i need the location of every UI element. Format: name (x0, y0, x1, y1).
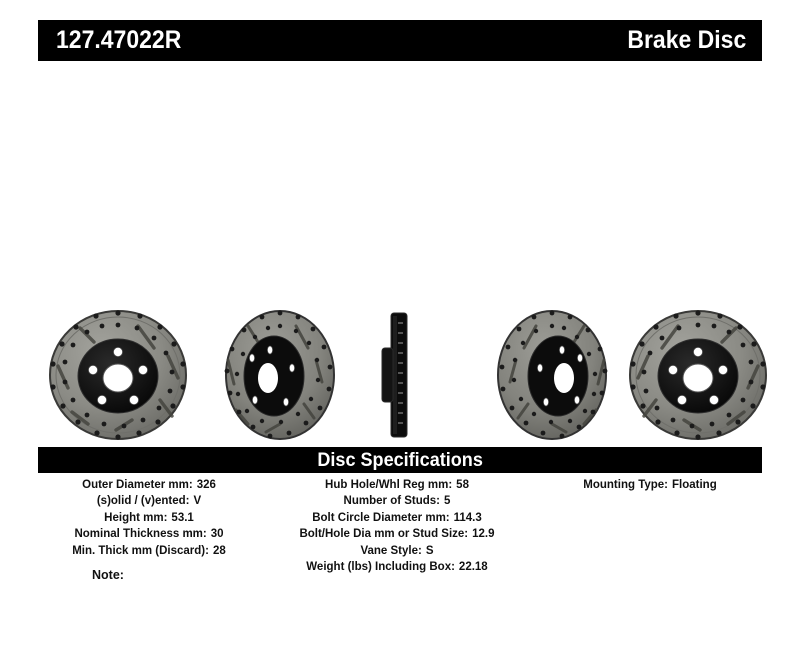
spec-label: Nominal Thickness mm: (74, 526, 206, 542)
rotor-angled-right (488, 300, 620, 445)
spec-label: (s)olid / (v)ented: (97, 493, 190, 509)
rotor-angled-left (212, 300, 344, 445)
spec-row: Hub Hole/Whl Reg mm: 58 (266, 477, 528, 493)
spec-column-right: Mounting Type: Floating (538, 477, 762, 493)
disc-specifications-title: Disc Specifications (317, 451, 483, 470)
spec-label: Number of Studs: (344, 493, 440, 509)
spec-label: Bolt/Hole Dia mm or Stud Size: (299, 526, 468, 542)
spec-value: 114.3 (450, 510, 482, 526)
spec-value: 58 (452, 477, 469, 493)
spec-row: (s)olid / (v)ented: V (38, 493, 260, 509)
spec-value: S (422, 543, 434, 559)
spec-label: Vane Style: (360, 543, 421, 559)
spec-column-left: Outer Diameter mm: 326 (s)olid / (v)ente… (38, 477, 260, 559)
spec-label: Min. Thick mm (Discard): (72, 543, 209, 559)
spec-row: Nominal Thickness mm: 30 (38, 526, 260, 542)
spec-row: Min. Thick mm (Discard): 28 (38, 543, 260, 559)
rotor-front-face-right (622, 300, 774, 445)
note-block: Note: (92, 568, 129, 582)
spec-row: Height mm: 53.1 (38, 510, 260, 526)
spec-row: Mounting Type: Floating (538, 477, 762, 493)
disc-specifications-bar: Disc Specifications (38, 447, 762, 473)
spec-label: Height mm: (104, 510, 167, 526)
spec-row: Bolt/Hole Dia mm or Stud Size: 12.9 (266, 526, 528, 542)
rotor-front-face-left (42, 300, 194, 445)
spec-value: Floating (668, 477, 717, 493)
rotor-edge-profile (374, 300, 422, 445)
product-image-strip (0, 300, 800, 445)
spec-value: 28 (209, 543, 226, 559)
spec-value: 53.1 (167, 510, 193, 526)
spec-label: Weight (lbs) Including Box: (306, 559, 455, 575)
spec-label: Bolt Circle Diameter mm: (312, 510, 449, 526)
spec-value: 12.9 (468, 526, 494, 542)
spec-row: Bolt Circle Diameter mm: 114.3 (266, 510, 528, 526)
product-type-label: Brake Disc (627, 28, 746, 53)
header-bar: 127.47022R Brake Disc (38, 20, 762, 61)
spec-value: 30 (207, 526, 224, 542)
spec-value: 5 (440, 493, 450, 509)
spec-label: Hub Hole/Whl Reg mm: (325, 477, 452, 493)
part-number: 127.47022R (56, 28, 181, 53)
spec-row: Outer Diameter mm: 326 (38, 477, 260, 493)
spec-row: Number of Studs: 5 (266, 493, 528, 509)
spec-label: Mounting Type: (583, 477, 668, 493)
spec-column-middle: Hub Hole/Whl Reg mm: 58 Number of Studs:… (266, 477, 528, 575)
note-label: Note: (92, 568, 124, 582)
spec-value: 22.18 (455, 559, 488, 575)
spec-value: 326 (193, 477, 216, 493)
spec-row: Vane Style: S (266, 543, 528, 559)
spec-sheet: 127.47022R Brake Disc (0, 0, 800, 655)
specifications-table: Outer Diameter mm: 326 (s)olid / (v)ente… (38, 477, 762, 587)
spec-row: Weight (lbs) Including Box: 22.18 (266, 559, 528, 575)
spec-value: V (189, 493, 201, 509)
spec-label: Outer Diameter mm: (82, 477, 193, 493)
